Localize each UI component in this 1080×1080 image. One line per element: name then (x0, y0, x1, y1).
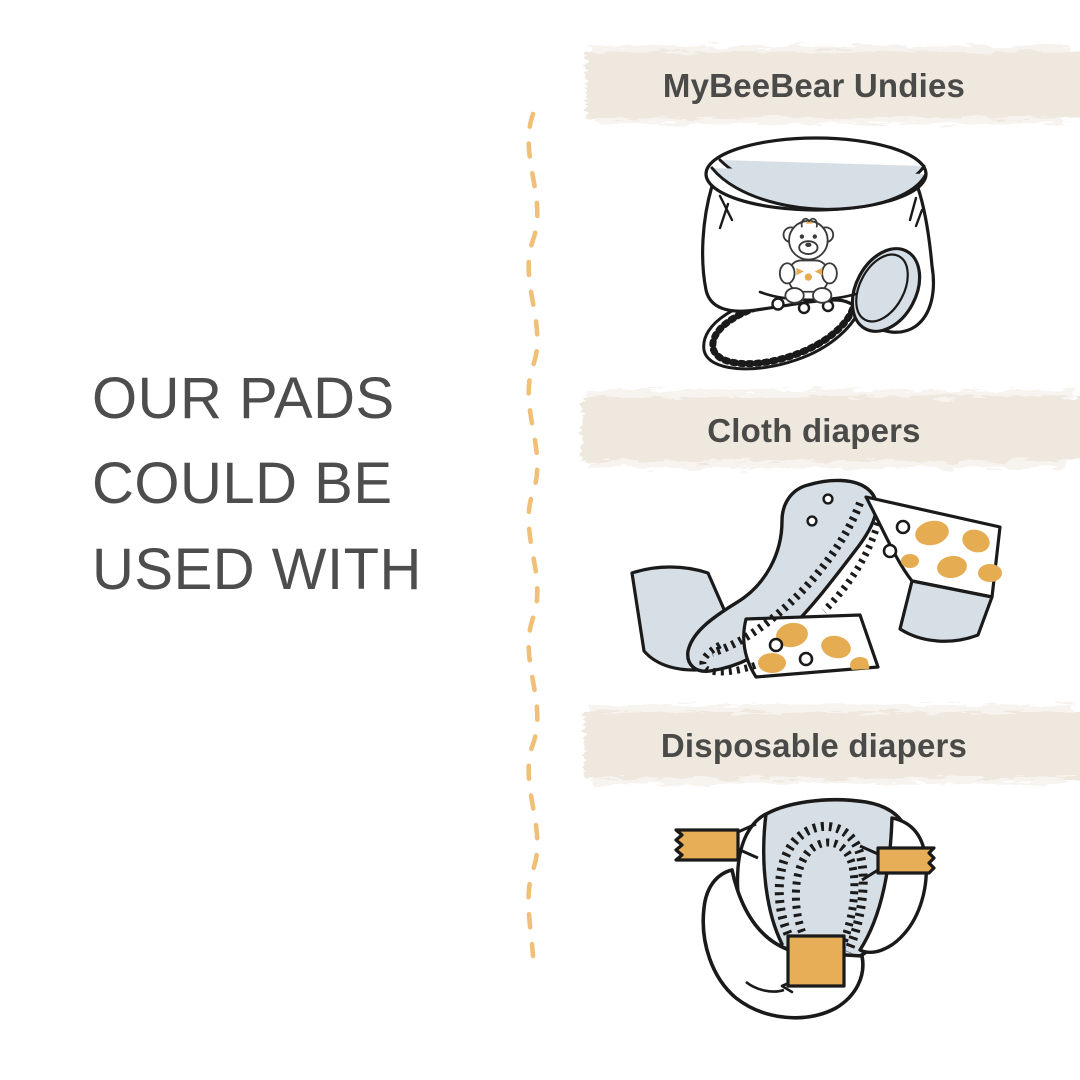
panel-cloth-diapers: Cloth diapers (560, 385, 1080, 705)
wavy-dashed-divider-icon (498, 110, 568, 960)
training-undies-illustration (560, 124, 1080, 374)
panel-label-cloth-diapers: Cloth diapers (560, 385, 1068, 477)
headline-line-2: COULD BE (92, 441, 492, 526)
promo-graphic-canvas: OUR PADS COULD BE USED WITH MyBeeBear Un… (0, 0, 1080, 1080)
panel-label-mybeebear-undies: MyBeeBear Undies (560, 40, 1068, 132)
headline-line-3: USED WITH (92, 527, 492, 612)
cloth-diaper-illustration (560, 469, 1080, 694)
tape-tab-left (676, 830, 738, 860)
panel-mybeebear-undies: MyBeeBear Undies (560, 40, 1080, 385)
headline-line-1: OUR PADS (92, 356, 492, 441)
panel-disposable-diapers: Disposable diapers (560, 700, 1080, 1040)
tape-tab-center (788, 936, 844, 986)
tape-tab-right (878, 848, 934, 873)
page-title: OUR PADS COULD BE USED WITH (92, 356, 492, 612)
panel-label-disposable-diapers: Disposable diapers (560, 700, 1068, 792)
disposable-diaper-illustration (560, 784, 1080, 1034)
